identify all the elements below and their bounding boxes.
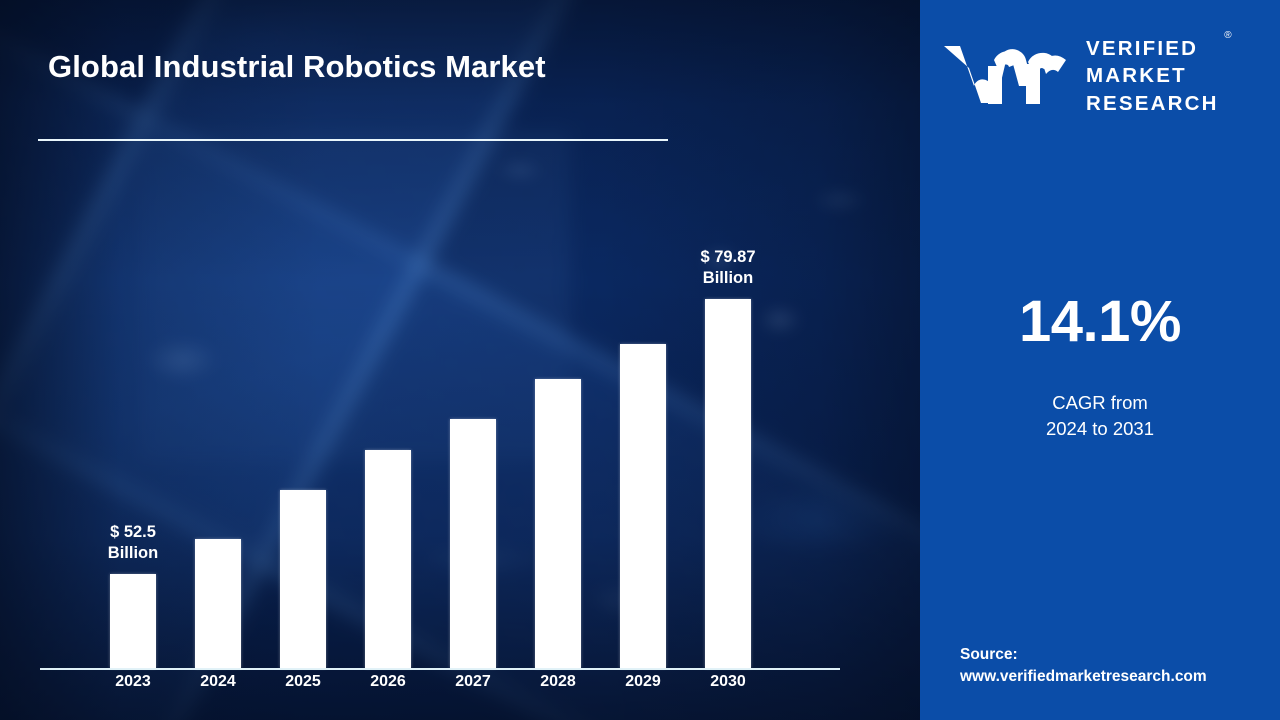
x-axis-label-2024: 2024 [178,673,258,691]
brand-logo[interactable]: VERIFIED MARKET RESEARCH ® [942,34,1264,116]
x-axis-label-2027: 2027 [433,673,513,691]
x-axis-label-2029: 2029 [603,673,683,691]
value-label-amount: $ 79.87 [658,247,798,268]
brand-wordmark: VERIFIED MARKET RESEARCH ® [1086,33,1219,116]
cagr-caption: CAGR from 2024 to 2031 [920,390,1280,441]
bar-chart-plot-area: 20232024202520262027202820292030$ 52.5Bi… [0,0,920,720]
bar-2025 [280,490,326,668]
x-axis-label-2023: 2023 [93,673,173,691]
value-label-amount: $ 52.5 [63,522,203,543]
bar-2028 [535,379,581,668]
source-attribution: Source: www.verifiedmarketresearch.com [960,644,1270,688]
x-axis-label-2028: 2028 [518,673,598,691]
brand-line-market: MARKET [1086,62,1219,89]
bar-2023 [110,574,156,668]
x-axis-baseline [40,668,840,670]
side-panel: VERIFIED MARKET RESEARCH ® 14.1% CAGR fr… [920,0,1280,720]
value-label-2023: $ 52.5Billion [63,522,203,564]
x-axis-label-2025: 2025 [263,673,343,691]
source-label: Source: [960,644,1270,666]
value-label-unit: Billion [658,268,798,289]
chart-panel: Global Industrial Robotics Market 202320… [0,0,920,720]
source-url-link[interactable]: www.verifiedmarketresearch.com [960,666,1270,688]
bar-2030 [705,299,751,668]
bar-2026 [365,450,411,668]
vmr-wordmark-logo-icon [942,42,1070,108]
cagr-value: 14.1% [920,293,1280,351]
bar-2029 [620,344,666,668]
x-axis-label-2026: 2026 [348,673,428,691]
bar-2027 [450,419,496,668]
value-label-unit: Billion [63,543,203,564]
cagr-caption-line-1: CAGR from [920,390,1280,416]
brand-line-verified: VERIFIED [1086,35,1219,62]
infographic-canvas: Global Industrial Robotics Market 202320… [0,0,1280,720]
value-label-2030: $ 79.87Billion [658,247,798,289]
x-axis-label-2030: 2030 [688,673,768,691]
cagr-caption-line-2: 2024 to 2031 [920,416,1280,442]
brand-line-research: RESEARCH [1086,90,1219,117]
registered-trademark-icon: ® [1224,30,1231,41]
